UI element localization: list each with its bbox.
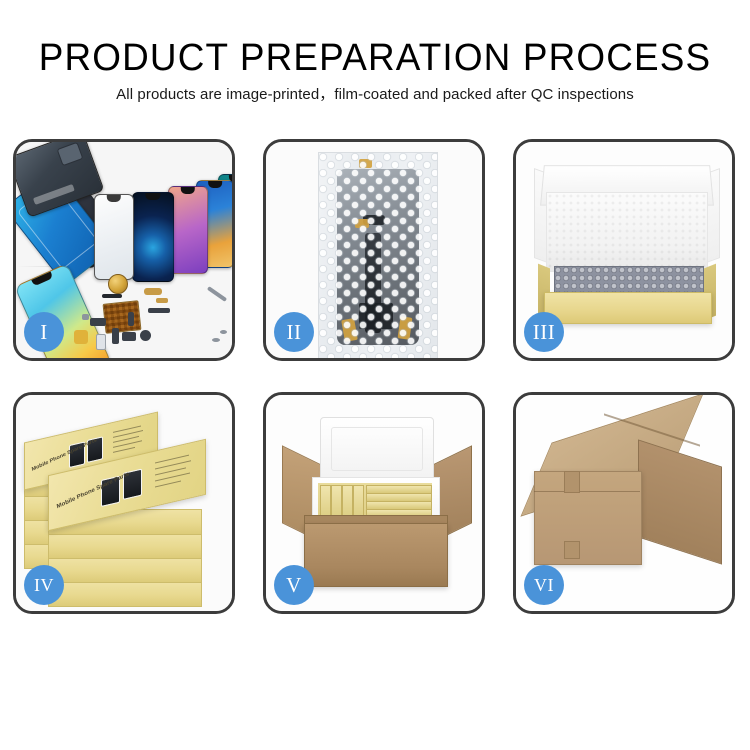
stacked-box — [48, 533, 202, 559]
box-label-line — [113, 447, 135, 453]
bubble-texture-icon — [319, 153, 437, 358]
spare-part-icon — [128, 312, 134, 326]
step-badge-6: VI — [524, 565, 564, 605]
process-step-2[interactable]: II — [263, 139, 485, 361]
spare-part-icon — [122, 332, 136, 341]
carton-front-icon — [304, 523, 448, 587]
spare-part-icon — [140, 330, 151, 341]
screw-icon — [220, 330, 227, 334]
phone-purple-icon — [168, 186, 208, 274]
phone-notch-icon — [208, 181, 222, 188]
product-preparation-infographic: PRODUCT PREPARATION PROCESS All products… — [0, 0, 750, 750]
stacked-box — [48, 557, 202, 583]
process-step-4[interactable]: Mobile Phone Spare Parts Mobile Phone S — [13, 392, 235, 614]
box-label-line — [155, 481, 181, 488]
process-step-1[interactable]: I — [13, 139, 235, 361]
process-step-6[interactable]: VI — [513, 392, 735, 614]
carton-seam-icon — [534, 491, 640, 492]
phone-notch-icon — [107, 195, 121, 202]
step-badge-5: V — [274, 565, 314, 605]
phone-notch-icon — [145, 193, 160, 200]
spare-part-icon — [96, 334, 106, 350]
spare-part-icon — [82, 314, 89, 320]
process-step-5[interactable]: V — [263, 392, 485, 614]
process-step-3[interactable]: III — [513, 139, 735, 361]
bubble-wrap-bag-icon — [318, 152, 438, 358]
spare-part-icon — [148, 308, 170, 313]
step-badge-3: III — [524, 312, 564, 352]
screw-icon — [212, 338, 220, 342]
spare-part-icon — [90, 318, 106, 326]
screw-grid-icon — [103, 300, 142, 334]
step-badge-2: II — [274, 312, 314, 352]
spare-part-icon — [112, 328, 119, 344]
process-step-grid: I II — [13, 139, 737, 614]
spare-part-icon — [74, 330, 88, 344]
screen-protector-icon — [94, 194, 134, 280]
styrofoam-lid-icon — [320, 417, 434, 481]
page-subtitle: All products are image-printed，film-coat… — [0, 85, 750, 105]
spare-part-icon — [144, 288, 162, 295]
foam-sheet-icon — [546, 192, 708, 272]
header: PRODUCT PREPARATION PROCESS All products… — [0, 36, 750, 105]
carton-tape-icon — [564, 541, 580, 559]
spare-part-icon — [102, 294, 122, 298]
vibration-motor-icon — [108, 274, 128, 294]
yellow-box-front-icon — [544, 292, 712, 324]
phone-plasma-icon — [132, 192, 174, 282]
foam-texture-icon — [547, 193, 707, 271]
step-badge-4: IV — [24, 565, 64, 605]
page-title: PRODUCT PREPARATION PROCESS — [11, 36, 739, 80]
step-badge-1: I — [24, 312, 64, 352]
carton-tape-icon — [564, 471, 580, 493]
stacked-box — [48, 581, 202, 607]
phone-notch-icon — [181, 187, 195, 194]
carton-front-face-icon — [534, 471, 642, 565]
spare-part-icon — [156, 298, 168, 303]
